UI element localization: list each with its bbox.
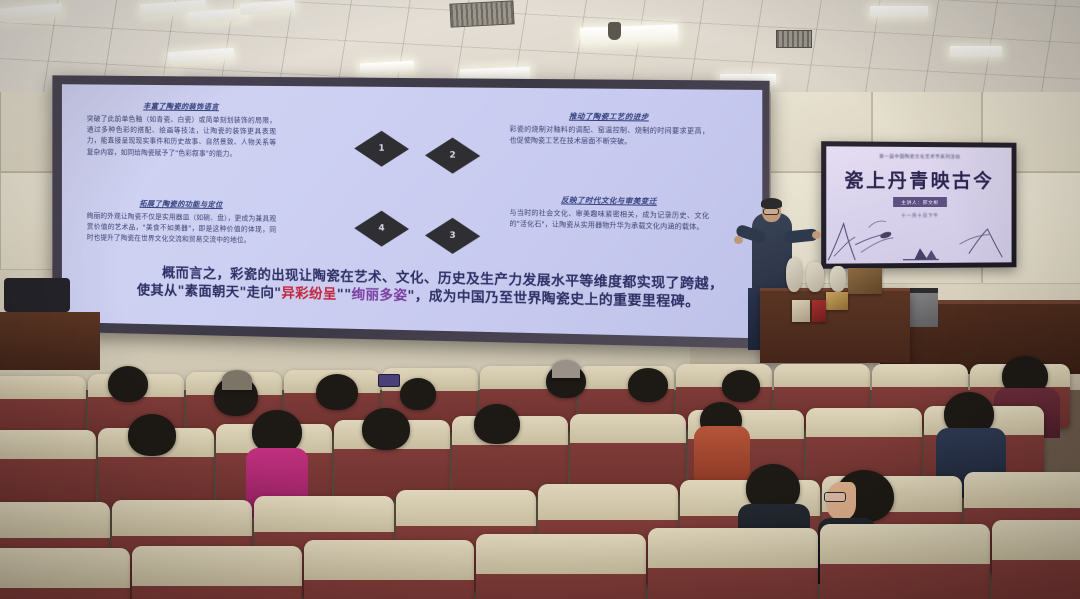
porcelain-vase bbox=[830, 266, 846, 292]
seat[interactable] bbox=[992, 520, 1080, 599]
ceiling-light bbox=[870, 6, 928, 17]
section-body: 与当时的社会文化、审美趣味紧密相关，成为记录历史、文化的"活化石"，让陶瓷从实用… bbox=[510, 208, 710, 234]
ceiling-light bbox=[580, 24, 679, 44]
projection-screen: 丰富了陶瓷的装饰语言 突破了此前单色釉（如青瓷、白瓷）或简单刻划装饰的局限，通过… bbox=[52, 75, 769, 348]
seat[interactable] bbox=[132, 546, 302, 599]
slide-diamond-group: 1 2 4 3 bbox=[354, 130, 486, 260]
ceiling-speaker bbox=[608, 22, 621, 40]
slide-section-3: 反映了时代文化与审美变迁 与当时的社会文化、审美趣味紧密相关，成为记录历史、文化… bbox=[510, 194, 710, 234]
conclusion-part2: "，成为中国乃至世界陶瓷史上的重要里程碑。 bbox=[407, 288, 699, 310]
air-vent bbox=[776, 30, 812, 48]
section-heading: 丰富了陶瓷的装饰语言 bbox=[87, 100, 276, 113]
seat[interactable] bbox=[648, 528, 818, 599]
section-body: 绚丽的外观让陶瓷不仅是实用器皿（如碗、盘），更成为兼具观赏价值的艺术品，"美食不… bbox=[87, 211, 276, 247]
presenter-glasses bbox=[763, 208, 779, 215]
ink-painting-decoration bbox=[826, 205, 1011, 264]
diamond-badge-4: 4 bbox=[354, 210, 409, 247]
banner-top-line: 第一届中国陶瓷文化艺术节系列活动 bbox=[826, 153, 1011, 160]
auditorium-photo: 丰富了陶瓷的装饰语言 突破了此前单色釉（如青瓷、白瓷）或简单刻划装饰的局限，通过… bbox=[0, 0, 1080, 599]
seat[interactable] bbox=[0, 548, 130, 599]
red-box bbox=[812, 300, 826, 322]
seat[interactable] bbox=[0, 430, 96, 510]
conclusion-mid: "" bbox=[337, 287, 352, 303]
attendee-head bbox=[474, 404, 520, 444]
diamond-badge-1: 1 bbox=[354, 130, 409, 167]
attendee-head bbox=[108, 366, 148, 402]
slide-section-4: 拓展了陶瓷的功能与定位 绚丽的外观让陶瓷不仅是实用器皿（如碗、盘），更成为兼具观… bbox=[87, 197, 276, 247]
attendee-gray-hair bbox=[222, 370, 252, 390]
wooden-box bbox=[848, 268, 882, 294]
section-heading: 反映了时代文化与审美变迁 bbox=[510, 194, 710, 208]
seat[interactable] bbox=[570, 414, 686, 494]
attendee-gray-hair bbox=[552, 360, 580, 378]
section-body: 彩瓷的烧制对釉料的调配、窑温控制、烧制的时间要求更高，也促使陶瓷工艺在技术层面不… bbox=[510, 124, 710, 149]
slide-section-2: 推动了陶瓷工艺的进步 彩瓷的烧制对釉料的调配、窑温控制、烧制的时间要求更高，也促… bbox=[510, 110, 710, 149]
section-heading: 推动了陶瓷工艺的进步 bbox=[510, 110, 710, 123]
wall-panel bbox=[0, 172, 58, 270]
seat[interactable] bbox=[820, 524, 990, 599]
seat[interactable] bbox=[476, 534, 646, 599]
section-heading: 拓展了陶瓷的功能与定位 bbox=[87, 197, 276, 211]
attendee-head bbox=[400, 378, 436, 410]
presenter-hair bbox=[761, 198, 782, 208]
attendee-glasses bbox=[824, 492, 846, 502]
air-vent bbox=[449, 0, 514, 27]
attendee-head bbox=[628, 368, 668, 402]
attendee-torso-orange bbox=[694, 426, 750, 482]
seat[interactable] bbox=[304, 540, 474, 599]
seated-audience bbox=[0, 352, 1080, 599]
conclusion-highlight-purple: 绚丽多姿 bbox=[352, 287, 408, 304]
small-artifact bbox=[792, 300, 810, 322]
attendee-phone[interactable] bbox=[378, 374, 400, 387]
conclusion-highlight-red: 异彩纷呈 bbox=[282, 286, 337, 303]
attendee-head bbox=[316, 374, 358, 410]
presenter-left-hand bbox=[734, 236, 743, 244]
event-banner-display: 第一届中国陶瓷文化艺术节系列活动 瓷上丹青映古今 主讲人：邢文彬 十一月十日下午 bbox=[821, 141, 1016, 269]
ceiling-light bbox=[950, 46, 1002, 57]
section-body: 突破了此前单色釉（如青瓷、白瓷）或简单刻划装饰的局限，通过多种色彩的搭配、绘画等… bbox=[87, 114, 276, 160]
attendee-head bbox=[722, 370, 760, 402]
attendee-head bbox=[128, 414, 176, 456]
porcelain-jar bbox=[806, 262, 824, 292]
banner-title: 瓷上丹青映古今 bbox=[826, 166, 1011, 194]
av-equipment bbox=[4, 278, 70, 312]
presenter-right-hand bbox=[812, 231, 821, 239]
projected-slide: 丰富了陶瓷的装饰语言 突破了此前单色釉（如青瓷、白瓷）或简单刻划装饰的局限，通过… bbox=[62, 84, 762, 338]
diamond-badge-3: 3 bbox=[425, 217, 480, 254]
banner-content: 第一届中国陶瓷文化艺术节系列活动 瓷上丹青映古今 主讲人：邢文彬 十一月十日下午 bbox=[826, 146, 1011, 263]
slide-conclusion: 概而言之，彩瓷的出现让陶瓷在艺术、文化、历史及生产力发展水平等维度都实现了跨越，… bbox=[137, 263, 737, 313]
diamond-badge-2: 2 bbox=[425, 137, 480, 174]
porcelain-vase bbox=[786, 258, 802, 292]
slide-section-1: 丰富了陶瓷的装饰语言 突破了此前单色釉（如青瓷、白瓷）或简单刻划装饰的局限，通过… bbox=[87, 100, 276, 160]
attendee-head bbox=[362, 408, 410, 450]
ceramic-bowl bbox=[826, 292, 848, 310]
